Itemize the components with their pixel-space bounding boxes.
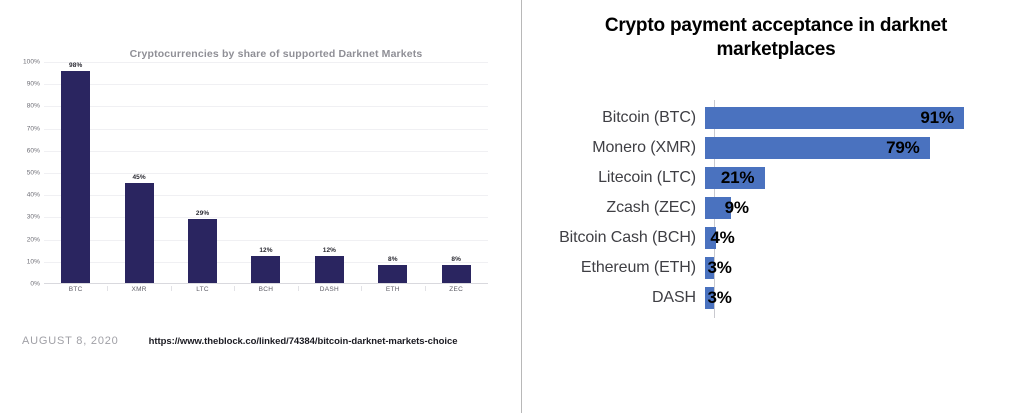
y-axis-tick-label: 10% [27,258,40,265]
bar-rect[interactable] [251,256,280,283]
bar-rect[interactable] [315,256,344,283]
bar-value-label: 8% [451,256,461,263]
bar-column[interactable]: 12% [236,62,296,283]
x-axis-tick-label: ZEC [426,286,486,302]
horizontal-bar-value-label: 21% [721,168,754,188]
bar-column[interactable]: 8% [363,62,423,283]
y-axis-tick-label: 0% [30,281,40,288]
horizontal-bar-track: 9% [705,193,1024,223]
left-source-date: AUGUST 8, 2020 [22,335,119,347]
horizontal-bar-value-label: 79% [886,138,919,158]
horizontal-bar-label: Bitcoin Cash (BCH) [522,229,705,247]
horizontal-bar-value-label: 3% [708,288,732,308]
y-axis-tick-label: 100% [23,59,40,66]
horizontal-bar-row[interactable]: Bitcoin (BTC)91% [522,103,1024,133]
left-chart-panel: Cryptocurrencies by share of supported D… [0,0,522,413]
horizontal-bar-value-label: 4% [710,228,734,248]
bar-column[interactable]: 29% [173,62,233,283]
horizontal-bar-value-label: 3% [708,258,732,278]
bar-column[interactable]: 98% [46,62,106,283]
x-axis-tick-mark [298,286,299,291]
horizontal-bar-track: 91% [705,103,1024,133]
x-axis-tick-label: ETH [363,286,423,302]
horizontal-bar-label: Litecoin (LTC) [522,169,705,187]
left-chart-title: Cryptocurrencies by share of supported D… [0,48,522,60]
horizontal-bar-track: 3% [705,283,1024,313]
y-axis-tick-label: 70% [27,125,40,132]
horizontal-bar-value-label: 9% [725,198,749,218]
left-footer: AUGUST 8, 2020 https://www.theblock.co/l… [22,335,457,347]
horizontal-bar-label: Zcash (ZEC) [522,199,705,217]
y-axis-tick-label: 50% [27,170,40,177]
horizontal-bar-label: Monero (XMR) [522,139,705,157]
x-axis-tick-label: DASH [299,286,359,302]
bar-rect[interactable] [188,219,217,283]
bar-rect[interactable] [61,71,90,283]
comparison-panels: Cryptocurrencies by share of supported D… [0,0,1024,413]
horizontal-bar-track: 4% [705,223,1024,253]
horizontal-bar-label: Ethereum (ETH) [522,259,705,277]
horizontal-bar-series: Bitcoin (BTC)91%Monero (XMR)79%Litecoin … [522,103,1024,313]
x-axis-tick-label: XMR [109,286,169,302]
horizontal-bar-row[interactable]: Litecoin (LTC)21% [522,163,1024,193]
horizontal-bar-row[interactable]: Bitcoin Cash (BCH)4% [522,223,1024,253]
horizontal-bar-track: 3% [705,253,1024,283]
bar-value-label: 29% [196,210,209,217]
right-chart-panel: Crypto payment acceptance in darknet mar… [522,0,1024,413]
bar-rect[interactable] [378,265,407,283]
left-source-url[interactable]: https://www.theblock.co/linked/74384/bit… [149,336,458,347]
bar-value-label: 12% [259,247,272,254]
x-axis-tick-mark [171,286,172,291]
horizontal-bar-row[interactable]: DASH3% [522,283,1024,313]
horizontal-bar-label: Bitcoin (BTC) [522,109,705,127]
plot-area: 98%45%29%12%12%8%8% [44,62,488,284]
horizontal-bar-track: 21% [705,163,1024,193]
x-axis-tick-label: LTC [173,286,233,302]
left-plot-wrapper: 100%90%80%70%60%50%40%30%20%10%0% 98%45%… [8,62,488,297]
y-axis-tick-label: 60% [27,147,40,154]
x-axis-tick-label: BCH [236,286,296,302]
bar-series: 98%45%29%12%12%8%8% [44,62,488,283]
axis-baseline [44,283,488,284]
horizontal-bar-row[interactable]: Zcash (ZEC)9% [522,193,1024,223]
y-axis-tick-label: 20% [27,236,40,243]
y-axis-tick-label: 40% [27,192,40,199]
horizontal-bar-label: DASH [522,289,705,307]
bar-value-label: 45% [132,174,145,181]
bar-column[interactable]: 8% [426,62,486,283]
right-chart-title: Crypto payment acceptance in darknet mar… [550,14,1002,63]
horizontal-bar-row[interactable]: Ethereum (ETH)3% [522,253,1024,283]
horizontal-bar-row[interactable]: Monero (XMR)79% [522,133,1024,163]
horizontal-bar-track: 79% [705,133,1024,163]
y-axis-tick-label: 90% [27,81,40,88]
bar-value-label: 12% [323,247,336,254]
y-axis: 100%90%80%70%60%50%40%30%20%10%0% [8,62,42,284]
x-axis: BTCXMRLTCBCHDASHETHZEC [44,286,488,302]
y-axis-tick-label: 30% [27,214,40,221]
bar-rect[interactable] [125,183,154,283]
x-axis-tick-mark [234,286,235,291]
bar-rect[interactable] [442,265,471,283]
bar-column[interactable]: 45% [109,62,169,283]
bar-value-label: 8% [388,256,398,263]
horizontal-bar-value-label: 91% [920,108,953,128]
bar-column[interactable]: 12% [299,62,359,283]
x-axis-tick-label: BTC [46,286,106,302]
x-axis-tick-mark [107,286,108,291]
bar-value-label: 98% [69,62,82,69]
x-axis-tick-mark [361,286,362,291]
y-axis-tick-label: 80% [27,103,40,110]
x-axis-tick-mark [425,286,426,291]
